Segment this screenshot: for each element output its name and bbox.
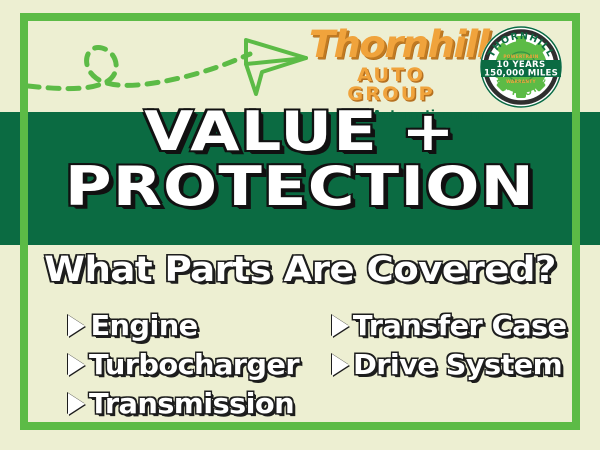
- logo-wordmark: Thornhill: [309, 26, 473, 63]
- subtitle-question: What Parts Are Covered?: [0, 250, 600, 290]
- frame-border-top: [20, 13, 580, 21]
- dashed-path-with-loop-and-arrow-icon: [18, 24, 308, 110]
- triangle-bullet-icon: [68, 315, 85, 337]
- covered-parts-list: Engine Turbocharger Transmission Transfe…: [28, 308, 572, 425]
- part-label: Transmission: [89, 387, 294, 420]
- list-item: Transfer Case: [332, 308, 582, 343]
- list-item: Transmission: [68, 386, 318, 421]
- list-item: Engine: [68, 308, 318, 343]
- part-label: Engine: [90, 309, 197, 342]
- value-protection-banner: Thornhill AUTO GROUP ThornhillAutomotive…: [0, 0, 600, 450]
- frame-border-left: [20, 13, 28, 430]
- list-item: Drive System: [332, 347, 582, 382]
- badge-small-top-text: POWERTRAIN: [503, 54, 538, 60]
- covered-parts-column-right: Transfer Case Drive System: [326, 308, 582, 425]
- part-label: Transfer Case: [353, 309, 567, 342]
- triangle-bullet-icon: [332, 315, 349, 337]
- triangle-bullet-icon: [68, 393, 85, 415]
- logo-tagline: AUTO GROUP: [310, 66, 471, 104]
- covered-parts-column-left: Engine Turbocharger Transmission: [28, 308, 318, 425]
- headline: VALUE + PROTECTION: [0, 108, 600, 211]
- headline-line-1: VALUE +: [0, 108, 600, 157]
- triangle-bullet-icon: [332, 354, 349, 376]
- warranty-seal-badge: THORNHILL VALUE + PROTECTION POWERTRAIN …: [479, 25, 563, 109]
- part-label: Turbocharger: [89, 348, 299, 381]
- badge-small-bottom-text: WARRANTY: [506, 79, 536, 85]
- headline-line-2: PROTECTION: [0, 163, 600, 212]
- badge-miles-text: 150,000 MILES: [484, 69, 558, 79]
- part-label: Drive System: [353, 348, 562, 381]
- list-item: Turbocharger: [68, 347, 318, 382]
- triangle-bullet-icon: [68, 354, 85, 376]
